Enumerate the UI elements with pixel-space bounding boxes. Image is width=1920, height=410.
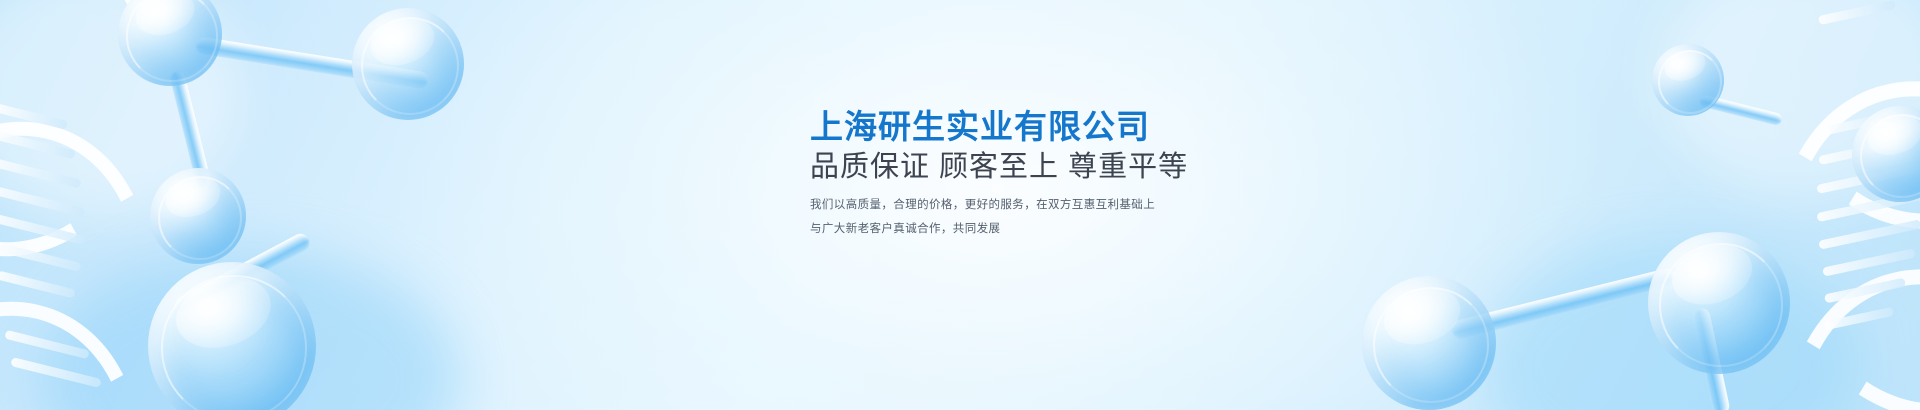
company-description: 我们以高质量，合理的价格，更好的服务，在双方互惠互利基础上 与广大新老客户真诚合… bbox=[810, 194, 1230, 241]
molecule-sphere bbox=[1852, 106, 1920, 202]
glow-right-bottom bbox=[1480, 240, 1860, 410]
company-slogan: 品质保证 顾客至上 尊重平等 bbox=[810, 150, 1230, 185]
banner-text-block: 上海研生实业有限公司 品质保证 顾客至上 尊重平等 我们以高质量，合理的价格，更… bbox=[810, 108, 1230, 241]
glow-left-top bbox=[0, 0, 240, 220]
glow-right-top bbox=[1660, 0, 1920, 200]
molecule-sphere bbox=[118, 0, 222, 86]
description-line-1: 我们以高质量，合理的价格，更好的服务，在双方互惠互利基础上 bbox=[810, 194, 1230, 218]
description-line-2: 与广大新老客户真诚合作，共同发展 bbox=[810, 218, 1230, 242]
glow-left-bottom bbox=[40, 250, 460, 410]
molecule-sphere-large bbox=[1648, 232, 1790, 374]
molecule-sphere bbox=[150, 168, 246, 264]
molecule-sphere-large bbox=[148, 262, 316, 410]
molecule-sphere bbox=[352, 8, 464, 120]
company-hero-banner: 上海研生实业有限公司 品质保证 顾客至上 尊重平等 我们以高质量，合理的价格，更… bbox=[0, 0, 1920, 410]
molecule-sphere-large bbox=[1362, 276, 1496, 410]
company-title: 上海研生实业有限公司 bbox=[810, 108, 1230, 146]
molecule-sphere bbox=[1652, 44, 1724, 116]
